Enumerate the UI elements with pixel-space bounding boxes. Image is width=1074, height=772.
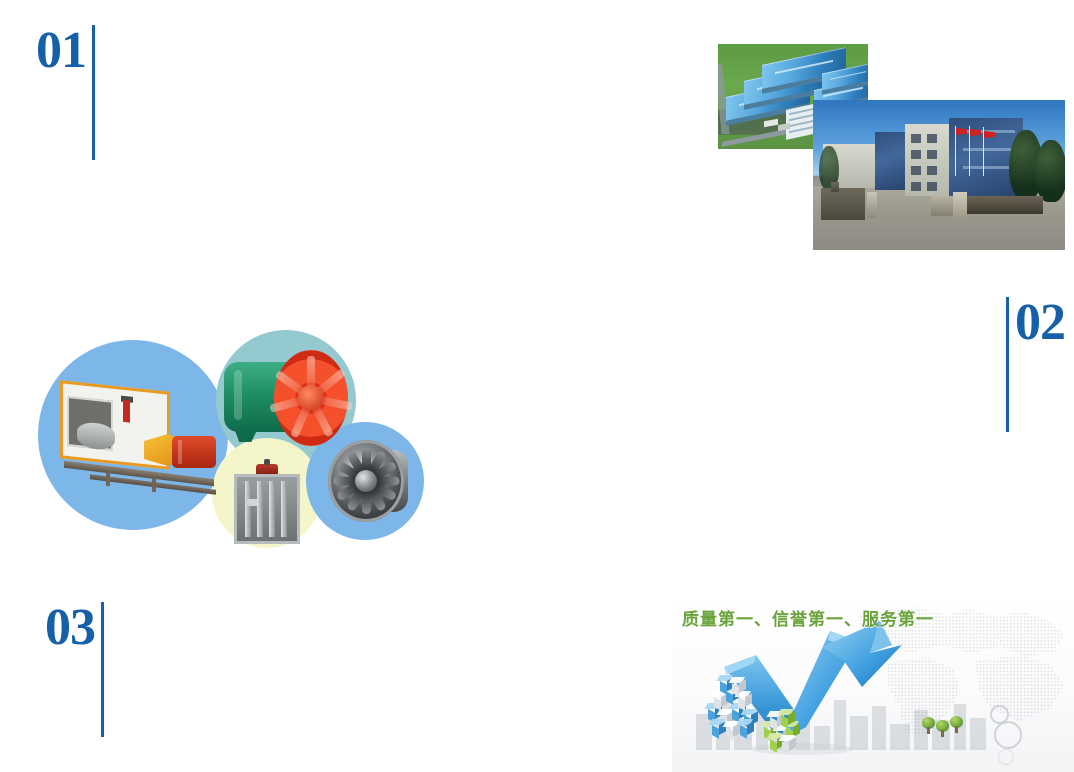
photo-window: [911, 182, 921, 191]
cube: [782, 735, 795, 748]
photo-chimney: [831, 182, 839, 192]
damper-blade: [281, 481, 287, 537]
flag-pole: [955, 126, 956, 176]
photo-gate-post: [867, 192, 877, 218]
tree-icon: [950, 716, 963, 733]
metal-fan-hub: [355, 470, 377, 492]
photo-kiosk: [931, 196, 953, 216]
section-rule-01: [92, 25, 95, 160]
photo-glass-wing: [875, 132, 909, 190]
blue-cube-stack-icon: [708, 675, 768, 733]
metal-fan-shell: [328, 440, 404, 522]
photo-main-block: [905, 124, 951, 196]
damper-label-plate: [247, 499, 257, 506]
tree-icon: [936, 720, 949, 737]
decor-ring: [994, 721, 1022, 749]
axial-fan-impeller-ring: [274, 350, 348, 446]
section-rule-03: [101, 602, 104, 737]
cube: [740, 719, 753, 732]
section-rule-02: [1006, 297, 1009, 432]
section-number-03: 03: [45, 602, 95, 654]
tree-icon: [922, 717, 935, 734]
product-damper-image: [234, 464, 300, 544]
photo-mullion: [963, 148, 1015, 151]
product-cabinet-fan-image: [60, 378, 218, 498]
product-metal-fan-image: [320, 438, 412, 526]
damper-blade: [269, 481, 275, 537]
axial-fan-foot: [234, 428, 258, 442]
flag-pole: [969, 126, 970, 176]
fan-impeller: [77, 421, 115, 451]
cube: [781, 709, 794, 722]
damper-blade: [257, 481, 263, 537]
photo-window: [911, 166, 921, 175]
photo-mullion: [963, 166, 1015, 169]
flag-pole: [983, 127, 984, 176]
photo-tree: [1035, 140, 1065, 202]
photo-window: [927, 182, 937, 191]
fan-leg: [152, 478, 156, 492]
fan-control-switch: [123, 400, 130, 423]
photo-window: [927, 134, 937, 143]
fan-leg: [106, 472, 110, 486]
photo-pillar: [953, 192, 967, 218]
office-building-photo: [813, 100, 1065, 250]
impeller-hub: [298, 385, 324, 411]
photo-fence: [967, 196, 1043, 214]
section-marker-03: 03: [45, 602, 104, 737]
photo-window: [911, 150, 921, 159]
poster-canvas: 01 02 03: [0, 0, 1074, 772]
section-number-02: 02: [1015, 297, 1065, 349]
render-truck: [764, 119, 778, 127]
service-slogan: 质量第一、信誉第一、服务第一: [682, 605, 934, 630]
cube: [738, 691, 751, 704]
section-marker-01: 01: [36, 25, 95, 160]
photo-gate-house: [821, 188, 865, 220]
section-number-01: 01: [36, 25, 86, 77]
damper-blade: [245, 481, 251, 537]
fan-motor: [172, 436, 216, 468]
section-marker-02: 02: [1006, 297, 1065, 432]
damper-frame: [234, 474, 300, 544]
product-axial-fan-image: [224, 348, 348, 452]
fan-inlet-opening: [67, 396, 113, 451]
photo-window: [927, 166, 937, 175]
cube: [732, 677, 745, 690]
product-showcase: [38, 330, 418, 545]
decor-ring: [998, 749, 1014, 765]
service-concept-graphic: 质量第一、信誉第一、服务第一: [672, 597, 1074, 772]
photo-window: [927, 150, 937, 159]
green-cube-stack-icon: [764, 709, 800, 743]
photo-window: [911, 134, 921, 143]
